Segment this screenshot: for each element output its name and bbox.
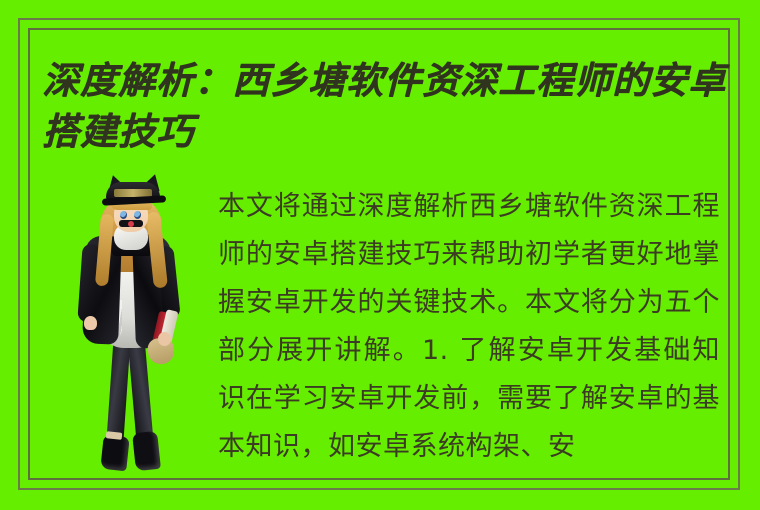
right-hand-shape [158, 332, 171, 346]
right-boot-shape [132, 431, 161, 471]
left-boot-shape [100, 435, 129, 472]
article-body-text: 本文将通过深度解析西乡塘软件资深工程师的安卓搭建技巧来帮助初学者更好地掌握安卓开… [218, 183, 720, 479]
page-title: 深度解析：西乡塘软件资深工程师的安卓搭建技巧 [42, 55, 742, 157]
right-eye-shape [134, 211, 141, 219]
choker-gem-shape [128, 221, 134, 227]
anime-girl-illustration [62, 180, 202, 472]
left-eye-shape [120, 211, 127, 219]
left-hand-shape [84, 316, 97, 330]
poster-canvas: 深度解析：西乡塘软件资深工程师的安卓搭建技巧 [0, 0, 760, 510]
